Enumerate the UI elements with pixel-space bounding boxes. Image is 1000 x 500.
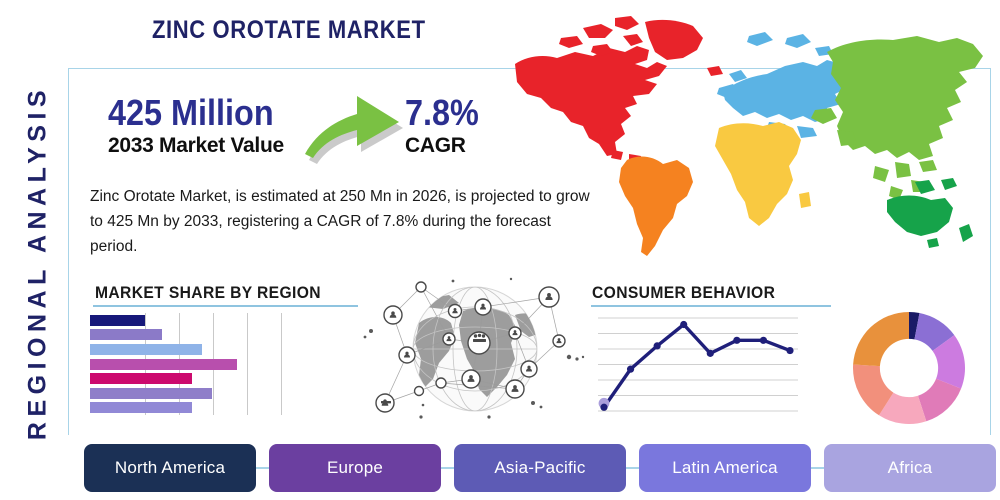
market-share-bar-chart (90, 313, 285, 415)
stat-cagr: 7.8% CAGR (405, 93, 487, 158)
tab-connector (256, 467, 269, 469)
tab-connector (626, 467, 639, 469)
map-region-north-america (515, 16, 723, 162)
bar-chart-bar (90, 359, 237, 370)
bar-chart-bar (90, 402, 192, 413)
cagr-amount: 7.8% (405, 93, 479, 133)
region-tab-label: Asia-Pacific (494, 458, 585, 478)
bar-gridline (281, 313, 282, 415)
tab-connector (441, 467, 454, 469)
bar-fill (90, 373, 192, 384)
line-data-point (707, 350, 714, 357)
line-data-point (760, 337, 767, 344)
line-data-point (627, 366, 634, 373)
section-title-consumer-behavior: CONSUMER BEHAVIOR (592, 283, 775, 303)
map-region-oceania (887, 178, 973, 248)
bar-fill (90, 315, 145, 326)
region-tab-label: North America (115, 458, 225, 478)
region-tab-latin-america[interactable]: Latin America (639, 444, 811, 492)
section-rule-consumer-behavior (591, 305, 831, 307)
bar-chart-bar (90, 344, 202, 355)
region-tab-europe[interactable]: Europe (269, 444, 441, 492)
region-distribution-donut (851, 310, 967, 426)
consumer-behavior-line-chart (598, 312, 798, 417)
bar-gridline (247, 313, 248, 415)
bar-fill (90, 402, 192, 413)
map-region-asia (811, 36, 983, 200)
global-network-globe (363, 271, 588, 428)
section-title-market-share: MARKET SHARE BY REGION (95, 283, 321, 303)
stat-market-value: 425 Million 2033 Market Value (108, 93, 292, 158)
world-map (497, 4, 997, 266)
bar-chart-bar (90, 388, 212, 399)
region-tab-asia-pacific[interactable]: Asia-Pacific (454, 444, 626, 492)
region-tab-north-america[interactable]: North America (84, 444, 256, 492)
tab-connector (811, 467, 824, 469)
bar-chart-bar (90, 373, 192, 384)
growth-arrow-icon (303, 82, 413, 168)
side-label: REGIONAL ANALYSIS (24, 43, 53, 483)
infographic-root: REGIONAL ANALYSIS ZINC OROTATE MARKET 42… (0, 0, 1000, 500)
region-tab-africa[interactable]: Africa (824, 444, 996, 492)
page-title: ZINC OROTATE MARKET (152, 16, 426, 45)
market-value-label: 2033 Market Value (108, 133, 292, 158)
bar-fill (90, 344, 202, 355)
bar-chart-bar (90, 329, 162, 340)
map-region-africa (715, 122, 811, 226)
bar-fill (90, 359, 237, 370)
market-value-amount: 425 Million (108, 93, 274, 133)
bar-fill (90, 388, 212, 399)
region-tab-label: Latin America (672, 458, 778, 478)
cagr-label: CAGR (405, 133, 487, 158)
line-data-point (680, 321, 687, 328)
bar-fill (90, 329, 162, 340)
line-data-point (733, 337, 740, 344)
region-tab-label: Africa (888, 458, 933, 478)
map-region-south-america (619, 157, 693, 256)
line-data-point (654, 342, 661, 349)
section-rule-market-share (93, 305, 358, 307)
line-data-point (600, 404, 607, 411)
line-data-point (786, 347, 793, 354)
bar-chart-bar (90, 315, 145, 326)
region-tab-label: Europe (327, 458, 383, 478)
region-tab-bar: North AmericaEuropeAsia-PacificLatin Ame… (84, 444, 994, 492)
donut-segment (853, 312, 909, 366)
